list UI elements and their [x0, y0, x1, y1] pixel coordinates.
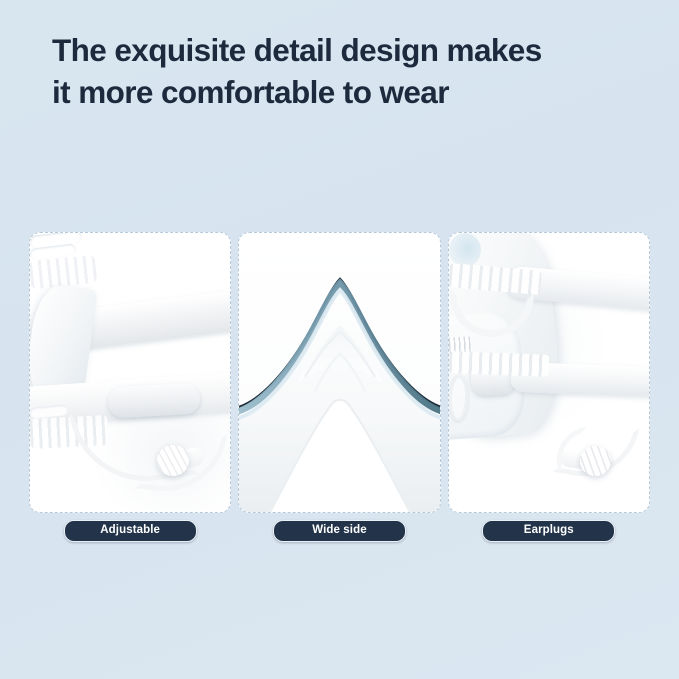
feature-panel-row — [29, 232, 650, 513]
earplug-body — [157, 445, 189, 476]
label-cell-wide-side: Wide side — [238, 521, 440, 541]
feature-panel-earplugs — [448, 232, 650, 513]
label-cell-adjustable: Adjustable — [29, 521, 231, 541]
feature-label-adjustable: Adjustable — [64, 520, 197, 541]
page-title: The exquisite detail design makes it mor… — [52, 30, 642, 114]
label-cell-earplugs: Earplugs — [448, 521, 650, 541]
promo-graphic-root: The exquisite detail design makes it mor… — [0, 0, 679, 679]
earplug-body — [580, 446, 611, 476]
nose-bridge-illustration — [239, 233, 439, 512]
feature-label-row: Adjustable Wide side Earplugs — [29, 521, 650, 541]
feature-label-earplugs: Earplugs — [482, 520, 615, 541]
goggle-lens-tint — [449, 233, 481, 267]
product-photo-adjustable — [30, 233, 230, 512]
product-photo-earplugs — [449, 233, 649, 512]
product-photo-wide-side — [239, 233, 439, 512]
feature-panel-wide-side — [238, 232, 440, 513]
feature-label-wide-side: Wide side — [273, 520, 406, 541]
feature-panel-adjustable — [29, 232, 231, 513]
strap-ratchet-teeth-lower — [449, 351, 549, 376]
